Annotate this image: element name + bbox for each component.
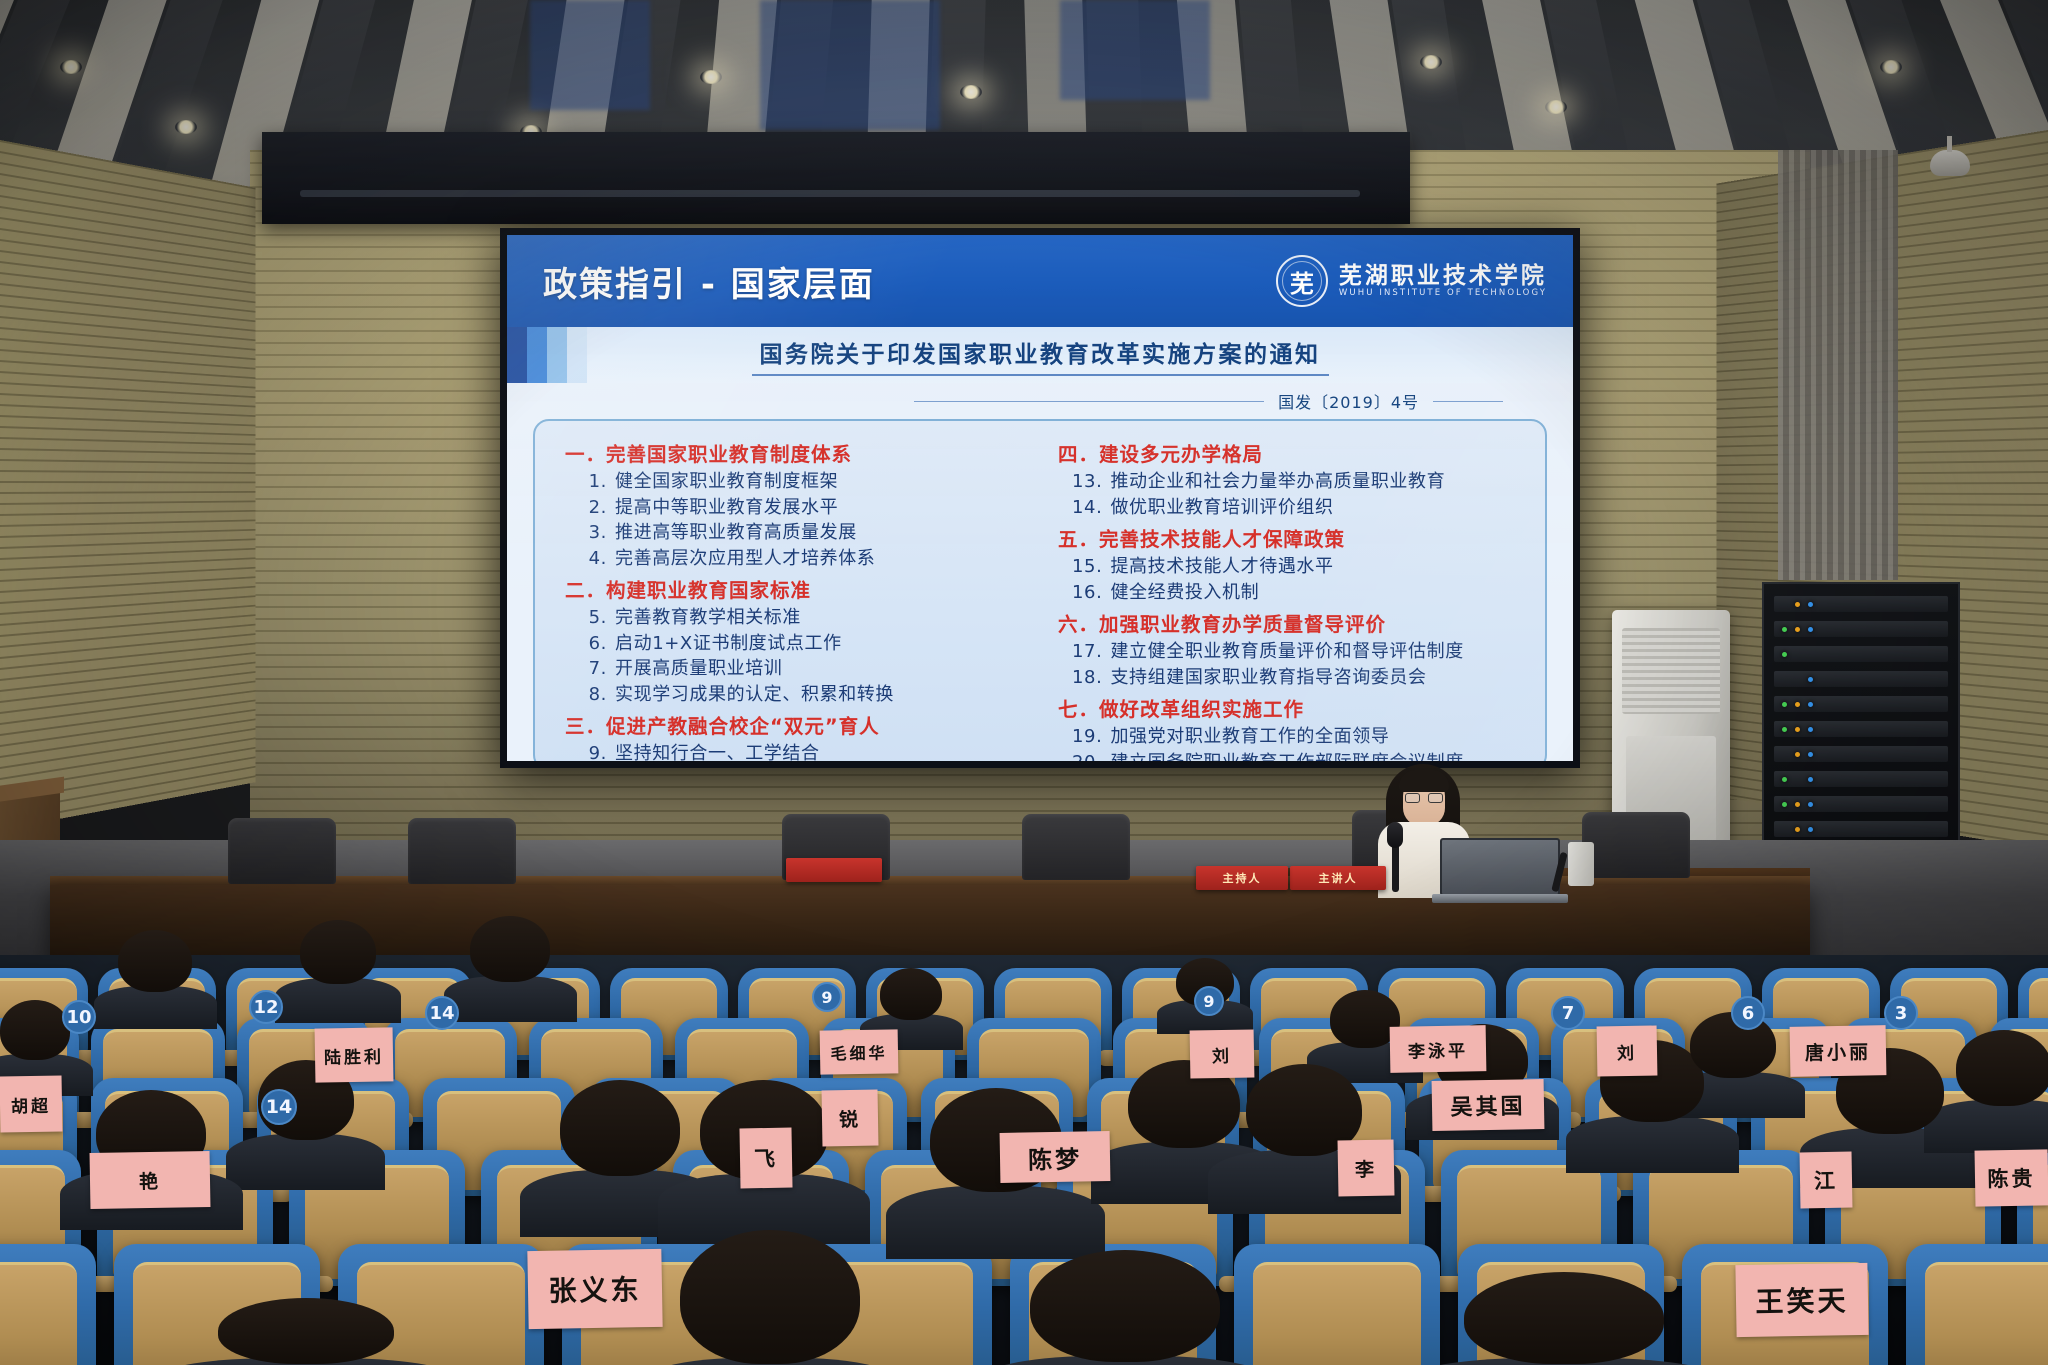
attendee-name-tag: 刘 — [1190, 1029, 1255, 1078]
attendee-name-tag: 陈贵 — [1975, 1149, 2048, 1206]
attendee-shoulders — [444, 976, 577, 1022]
attendee-head — [560, 1080, 680, 1176]
stage-chair — [1022, 814, 1130, 880]
name-tag-text: 飞 — [754, 1143, 779, 1173]
slide-list-item: 5.完善教育教学相关标准 — [555, 605, 1036, 631]
attendee-name-tag: 李 — [1338, 1140, 1395, 1197]
attendee-head — [218, 1298, 394, 1364]
screen-soffit — [262, 132, 1410, 224]
slide-right-column: 四．建设多元办学格局13.推动企业和社会力量举办高质量职业教育14.做优职业教育… — [1042, 435, 1535, 759]
attendee-name-tag: 刘 — [1597, 1025, 1658, 1076]
list-item-number: 2. — [579, 495, 607, 521]
attendee-name-tag: 毛细华 — [820, 1029, 899, 1074]
list-item-text: 建立健全职业教育质量评价和督导评估制度 — [1110, 639, 1463, 665]
rack-module — [1774, 721, 1948, 737]
glasses-icon — [1405, 793, 1443, 803]
slide-section-heading: 七．做好改革组织实施工作 — [1058, 693, 1529, 722]
attendee-name-tag: 吴其国 — [1432, 1079, 1545, 1131]
attendee-shoulders — [1566, 1116, 1739, 1173]
window-curtain — [1778, 150, 1898, 580]
slide-list-item: 15.提高技术技能人才待遇水平 — [1048, 554, 1529, 580]
slide-title: 政策指引 - 国家层面 — [543, 257, 875, 306]
list-item-text: 做优职业教育培训评价组织 — [1110, 495, 1333, 521]
slide-body: 一．完善国家职业教育制度体系1.健全国家职业教育制度框架2.提高中等职业教育发展… — [533, 419, 1547, 761]
rack-led-indicator — [1795, 827, 1800, 832]
attendee-name-tag: 王笑天 — [1735, 1263, 1868, 1337]
slide-list-item: 17.建立健全职业教育质量评价和督导评估制度 — [1048, 639, 1529, 665]
rack-module — [1774, 771, 1948, 787]
name-tag-text: 锐 — [839, 1104, 861, 1131]
presenter-laptop[interactable] — [1440, 838, 1560, 904]
attendee-name-tag: 艳 — [90, 1151, 211, 1209]
water-cup — [1568, 842, 1594, 886]
rack-led-indicator — [1782, 802, 1787, 807]
rack-module — [1774, 746, 1948, 762]
list-item-text: 提高中等职业教育发展水平 — [615, 495, 838, 521]
attendee-name-tag: 唐小丽 — [1790, 1025, 1887, 1077]
document-number-row: 国发〔2019〕4号 — [507, 383, 1573, 413]
list-item-text: 完善高层次应用型人才培养体系 — [615, 546, 875, 572]
name-tag-text: 刘 — [1617, 1038, 1637, 1063]
attendee-name-tag: 陆胜利 — [315, 1027, 394, 1082]
list-item-text: 启动1+X证书制度试点工作 — [615, 631, 842, 657]
ceiling-screen-reflection — [1060, 0, 1210, 100]
slide-list-item: 14.做优职业教育培训评价组织 — [1048, 495, 1529, 521]
slide-list-item: 8.实现学习成果的认定、积累和转换 — [555, 682, 1036, 708]
seat-number-badge: 3 — [1884, 996, 1918, 1030]
logo-name-en: WUHU INSTITUTE OF TECHNOLOGY — [1339, 289, 1547, 298]
nameplate-text: 主讲人 — [1319, 870, 1358, 886]
slide-section-heading: 六．加强职业教育办学质量督导评价 — [1058, 608, 1529, 637]
rack-led-indicator — [1808, 802, 1813, 807]
slide-list-item: 13.推动企业和社会力量举办高质量职业教育 — [1048, 469, 1529, 495]
slide-section-heading: 四．建设多元办学格局 — [1058, 438, 1529, 467]
seat-number-badge: 14 — [261, 1089, 297, 1125]
microphone-stem — [1392, 844, 1399, 892]
table-nameplate: 主讲人 — [1290, 866, 1386, 890]
rack-module — [1774, 671, 1948, 687]
name-tag-text: 吴其国 — [1450, 1088, 1526, 1121]
list-item-number: 19. — [1072, 724, 1102, 750]
rack-led-indicator — [1808, 602, 1813, 607]
slide-list-item: 16.健全经费投入机制 — [1048, 580, 1529, 606]
list-item-number: 20. — [1072, 750, 1102, 761]
auditorium-seat[interactable] — [0, 1244, 96, 1365]
list-item-number: 8. — [579, 682, 607, 708]
name-tag-text: 胡超 — [11, 1091, 51, 1117]
auditorium-seat[interactable] — [1906, 1244, 2048, 1365]
slide-subtitle-band: 国务院关于印发国家职业教育改革实施方案的通知 — [507, 327, 1573, 383]
projection-screen: 政策指引 - 国家层面 芜 芜湖职业技术学院 WUHU INSTITUTE OF… — [500, 228, 1580, 768]
seat-cushion — [0, 1262, 77, 1365]
attendee-head — [680, 1230, 860, 1364]
slide-list-item: 6.启动1+X证书制度试点工作 — [555, 631, 1036, 657]
attendee-shoulders — [94, 986, 217, 1029]
name-tag-text: 江 — [1814, 1165, 1839, 1195]
list-item-text: 健全经费投入机制 — [1110, 580, 1259, 606]
attendee-name-tag: 江 — [1800, 1152, 1853, 1209]
list-item-number: 4. — [579, 546, 607, 572]
list-item-number: 13. — [1072, 469, 1102, 495]
logo-glyph: 芜 — [1290, 264, 1314, 299]
seat-cushion — [1253, 1262, 1422, 1365]
presentation-slide: 政策指引 - 国家层面 芜 芜湖职业技术学院 WUHU INSTITUTE OF… — [507, 235, 1573, 761]
name-tag-text: 李泳平 — [1408, 1036, 1468, 1062]
rack-led-indicator — [1808, 627, 1813, 632]
seat-number-badge: 6 — [1731, 996, 1765, 1030]
slide-list-item: 1.健全国家职业教育制度框架 — [555, 469, 1036, 495]
slide-list-item: 18.支持组建国家职业教育指导咨询委员会 — [1048, 665, 1529, 691]
rack-module — [1774, 621, 1948, 637]
seat-number-badge: 9 — [812, 982, 842, 1012]
list-item-text: 实现学习成果的认定、积累和转换 — [615, 682, 894, 708]
auditorium-seat[interactable] — [1234, 1244, 1440, 1365]
slide-section-heading: 五．完善技术技能人才保障政策 — [1058, 523, 1529, 552]
list-item-number: 9. — [579, 741, 607, 761]
table-nameplate: 主持人 — [1196, 866, 1288, 890]
attendee-name-tag: 胡超 — [0, 1075, 62, 1132]
name-tag-text: 陆胜利 — [324, 1042, 384, 1068]
ceiling-downlight — [175, 120, 197, 134]
attendee-shoulders — [886, 1186, 1105, 1259]
attendee-name-tag: 张义东 — [527, 1249, 662, 1329]
stage-chair — [408, 818, 516, 884]
attendee-name-tag: 李泳平 — [1390, 1025, 1487, 1073]
slide-section-heading: 一．完善国家职业教育制度体系 — [565, 438, 1036, 467]
equipment-rack — [1762, 582, 1960, 880]
attendee-head — [118, 930, 192, 992]
nameplate-text: 主持人 — [1223, 870, 1262, 886]
attendee-head — [300, 920, 376, 984]
rack-led-indicator — [1808, 702, 1813, 707]
attendee-head — [1956, 1030, 2048, 1106]
rack-module — [1774, 796, 1948, 812]
list-item-number: 16. — [1072, 580, 1102, 606]
conference-hall-scene: 政策指引 - 国家层面 芜 芜湖职业技术学院 WUHU INSTITUTE OF… — [0, 0, 2048, 1365]
ceiling-downlight — [1545, 100, 1567, 114]
attendee-head — [1464, 1272, 1664, 1364]
list-item-number: 18. — [1072, 665, 1102, 691]
attendee-head — [880, 968, 942, 1020]
list-item-text: 支持组建国家职业教育指导咨询委员会 — [1110, 665, 1426, 691]
seat-number-badge: 14 — [425, 996, 459, 1030]
list-item-text: 坚持知行合一、工学结合 — [615, 741, 820, 761]
seat-number-badge: 12 — [249, 990, 283, 1024]
rack-led-indicator — [1808, 777, 1813, 782]
name-tag-text: 刘 — [1212, 1041, 1232, 1066]
rack-led-indicator — [1782, 727, 1787, 732]
attendee-name-tag: 陈梦 — [1000, 1131, 1111, 1183]
attendee-head — [1030, 1250, 1220, 1362]
name-tag-text: 张义东 — [548, 1268, 642, 1310]
decorative-chips — [507, 327, 587, 383]
slide-list-item: 19.加强党对职业教育工作的全面领导 — [1048, 724, 1529, 750]
slide-subtitle: 国务院关于印发国家职业教育改革实施方案的通知 — [752, 335, 1329, 376]
list-item-number: 7. — [579, 656, 607, 682]
rack-led-indicator — [1795, 752, 1800, 757]
attendee-name-tag: 飞 — [739, 1128, 792, 1189]
rack-module — [1774, 696, 1948, 712]
attendee-shoulders — [226, 1134, 385, 1190]
rack-led-indicator — [1782, 702, 1787, 707]
logo-name-cn: 芜湖职业技术学院 — [1339, 264, 1547, 289]
rack-module — [1774, 821, 1948, 837]
security-camera-icon — [1930, 150, 1970, 190]
list-item-text: 加强党对职业教育工作的全面领导 — [1110, 724, 1389, 750]
attendee-shoulders — [275, 978, 401, 1023]
rack-led-indicator — [1782, 777, 1787, 782]
list-item-text: 推动企业和社会力量举办高质量职业教育 — [1110, 469, 1445, 495]
document-number: 国发〔2019〕4号 — [1278, 389, 1419, 413]
rack-led-indicator — [1808, 752, 1813, 757]
ceiling-downlight — [60, 60, 82, 74]
attendee-name-tag: 锐 — [822, 1090, 879, 1147]
rack-led-indicator — [1795, 727, 1800, 732]
slide-header: 政策指引 - 国家层面 芜 芜湖职业技术学院 WUHU INSTITUTE OF… — [507, 235, 1573, 327]
rack-led-indicator — [1808, 677, 1813, 682]
list-item-text: 推进高等职业教育高质量发展 — [615, 520, 857, 546]
seat-number-badge: 9 — [1194, 986, 1224, 1016]
rack-led-indicator — [1795, 802, 1800, 807]
rack-module — [1774, 596, 1948, 612]
rack-led-indicator — [1808, 727, 1813, 732]
ceiling-screen-reflection — [530, 0, 650, 110]
rack-module — [1774, 646, 1948, 662]
list-item-number: 5. — [579, 605, 607, 631]
ceiling-downlight — [1420, 55, 1442, 69]
stage-chair — [228, 818, 336, 884]
attendee-head — [470, 916, 550, 982]
list-item-number: 15. — [1072, 554, 1102, 580]
rack-led-indicator — [1795, 702, 1800, 707]
list-item-number: 1. — [579, 469, 607, 495]
slide-list-item: 9.坚持知行合一、工学结合 — [555, 741, 1036, 761]
slide-list-item: 2.提高中等职业教育发展水平 — [555, 495, 1036, 521]
attendee-head — [0, 1000, 70, 1060]
slide-list-item: 7.开展高质量职业培训 — [555, 656, 1036, 682]
list-item-text: 开展高质量职业培训 — [615, 656, 782, 682]
seat-cushion — [1925, 1262, 2048, 1365]
ceiling-downlight — [960, 85, 982, 99]
slide-list-item: 3.推进高等职业教育高质量发展 — [555, 520, 1036, 546]
microphone-icon — [1387, 822, 1403, 848]
seat-number-badge: 10 — [62, 1000, 96, 1034]
ceiling-downlight — [700, 70, 722, 84]
rack-led-indicator — [1795, 627, 1800, 632]
ac-vent-icon — [1622, 628, 1720, 714]
logo-seal-icon: 芜 — [1276, 255, 1328, 307]
stage-chair — [1582, 812, 1690, 878]
rack-led-indicator — [1795, 602, 1800, 607]
slide-left-column: 一．完善国家职业教育制度体系1.健全国家职业教育制度框架2.提高中等职业教育发展… — [549, 435, 1042, 759]
name-tag-text: 陈贵 — [1987, 1163, 2036, 1194]
list-item-number: 3. — [579, 520, 607, 546]
rack-led-indicator — [1782, 627, 1787, 632]
slide-list-item: 4.完善高层次应用型人才培养体系 — [555, 546, 1036, 572]
name-tag-text: 艳 — [139, 1166, 161, 1193]
list-item-text: 提高技术技能人才待遇水平 — [1110, 554, 1333, 580]
left-wall — [0, 140, 256, 830]
slide-section-heading: 三．促进产教融合校企“双元”育人 — [565, 710, 1036, 739]
attendee-shoulders — [1924, 1100, 2048, 1153]
rule-left — [914, 401, 1264, 402]
list-item-number: 17. — [1072, 639, 1102, 665]
list-item-text: 完善教育教学相关标准 — [615, 605, 801, 631]
rack-led-indicator — [1808, 827, 1813, 832]
ceiling-downlight — [1880, 60, 1902, 74]
list-item-number: 14. — [1072, 495, 1102, 521]
slide-section-heading: 二．构建职业教育国家标准 — [565, 574, 1036, 603]
list-item-number: 6. — [579, 631, 607, 657]
name-tag-text: 陈梦 — [1028, 1139, 1083, 1175]
name-tag-text: 李 — [1355, 1154, 1377, 1181]
seat-number-badge: 7 — [1551, 996, 1585, 1030]
rack-led-indicator — [1782, 652, 1787, 657]
name-tag-text: 毛细华 — [830, 1040, 887, 1065]
list-item-text: 健全国家职业教育制度框架 — [615, 469, 838, 495]
name-tag-text: 唐小丽 — [1805, 1037, 1871, 1065]
soffit-lip — [300, 190, 1360, 197]
table-nameplate — [786, 858, 882, 882]
rule-right — [1433, 401, 1503, 402]
name-tag-text: 王笑天 — [1755, 1279, 1849, 1321]
ceiling-screen-reflection — [760, 0, 940, 130]
institution-logo: 芜 芜湖职业技术学院 WUHU INSTITUTE OF TECHNOLOGY — [1276, 255, 1547, 307]
